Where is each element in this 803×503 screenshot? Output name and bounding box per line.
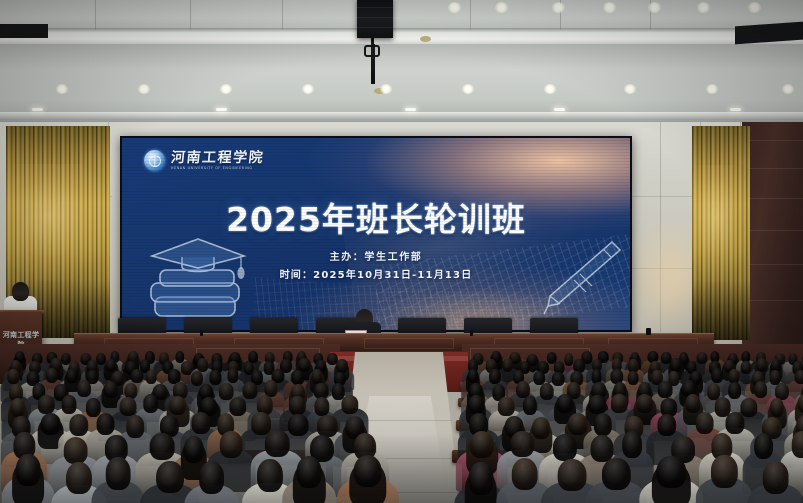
screen-subtitle-date: 时间：2025年10月31日-11月13日 [122,266,630,281]
ceiling-lower-plane [0,44,803,118]
audience-member-head [7,369,19,384]
audience-member [0,454,56,503]
audience-member-head [468,395,484,414]
stage-curtain-right [692,126,750,340]
downlight [56,84,68,94]
downlight [544,84,556,94]
audience-member-head [220,431,243,458]
audience-member-head [264,380,277,397]
audience-member-head [511,431,534,458]
table-microphone-icon [200,330,203,336]
audience-member-head [685,394,700,413]
audience-member-head [183,436,203,463]
auditorium-photo: 河南工程学院 HENAN UNIVERSITY OF ENGINEERING [0,0,803,503]
ceiling-seam [95,0,96,30]
downlight [448,2,461,13]
audience-member-head [66,462,92,494]
slot-light [216,108,227,111]
audience-member-head [143,394,159,413]
university-crest-icon [144,150,165,171]
presenter-head [12,282,29,301]
downlight [624,84,636,94]
audience-member-head [511,458,538,490]
university-logo: 河南工程学院 HENAN UNIVERSITY OF ENGINEERING [144,150,264,171]
screen-subtitle-organizer: 主办：学生工作部 [122,248,630,263]
audience-member-head [265,430,289,457]
audience-member-head [754,433,774,460]
audience-member-head [557,394,574,413]
ceiling-speaker-icon [357,0,393,38]
university-name-en: HENAN UNIVERSITY OF ENGINEERING [171,167,264,170]
downlight [302,84,314,94]
audience-member-head [623,431,643,458]
downlight [380,84,392,94]
audience-member-head [227,368,238,383]
audience-member-head [106,457,131,489]
audience-member-head [468,462,493,494]
table-microphone-icon [470,330,473,336]
audience-member-head [61,395,76,414]
downlight [706,84,718,94]
audience-member-head [726,412,745,434]
audience-member-head [10,398,25,417]
led-screen: 河南工程学院 HENAN UNIVERSITY OF ENGINEERING [120,136,632,332]
audience-member-head [762,461,789,493]
audience-member-head [798,394,803,413]
audience-member-head [558,459,587,491]
audience-member [182,461,241,503]
downlight [220,84,232,94]
downlight [552,2,565,13]
audience-member-head [467,369,478,384]
ceiling-corner-box-left [0,24,48,38]
ceiling-soffit [0,28,803,44]
audience-member-head [791,431,803,458]
wall-wood-panel-right [742,122,803,344]
speaker-bracket [364,45,380,57]
audience-member-head [46,368,58,383]
downlight [648,2,661,13]
downlight [748,2,761,13]
ceiling-upper-plane [0,0,803,30]
audience-member-head [711,455,737,487]
audience-member-head [16,454,40,486]
downlight [697,2,710,13]
audience-member-head [602,458,630,490]
screen-title: 2025年班长轮训班 [122,193,630,241]
downlight [782,84,794,94]
slot-light [730,108,741,111]
audience-member-head [289,396,305,415]
audience-member-head [156,461,184,493]
audience-member-head [96,413,115,435]
audience-member-head [657,414,676,436]
downlight [603,2,616,13]
slot-light [405,108,416,111]
audience-member-head [146,370,157,385]
downlight [138,84,150,94]
slot-light [554,108,565,111]
downlight [462,84,474,94]
audience-member [798,461,803,503]
audience-member-head [63,437,88,464]
audience-member [334,455,400,503]
audience-member-head [297,456,322,488]
ceiling-seam [190,0,191,30]
audience-member [281,456,338,503]
audience-member-head [695,412,714,434]
audience-member-head [312,369,323,384]
downlight [495,2,508,13]
audience-member-head [291,370,305,385]
audience-member-head [336,359,348,372]
audience-member-head [470,431,494,458]
audience-member [745,461,803,503]
led-screen-content: 河南工程学院 HENAN UNIVERSITY OF ENGINEERING [122,138,630,330]
audience-member-head [489,369,501,384]
audience-member-head [257,459,283,491]
audience-member-head [199,461,225,493]
ceiling-seam [470,0,471,30]
audience-member-head [353,455,382,487]
audience-member-head [523,396,537,415]
slot-light [32,108,43,111]
ceiling-seam [282,0,283,30]
audience-member-head [656,456,685,488]
audience-member-head [341,395,358,414]
audience-member-head [553,434,577,461]
university-name-cn: 河南工程学院 [170,151,264,165]
table-microphone-icon [646,328,651,335]
audience-member-head [770,398,784,417]
ceiling-vent-icon [420,36,431,42]
